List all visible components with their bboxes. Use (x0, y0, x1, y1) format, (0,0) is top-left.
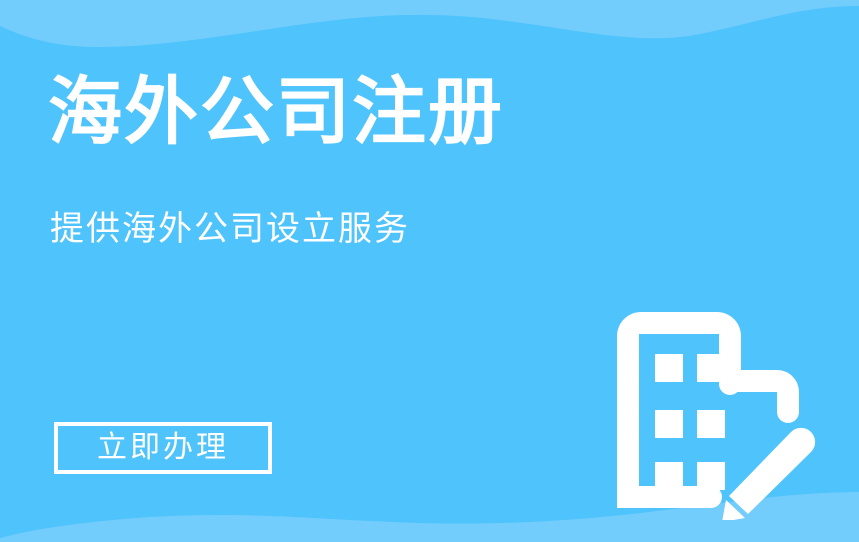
promo-banner: 海外公司注册 提供海外公司设立服务 立即办理 (0, 0, 859, 542)
page-title: 海外公司注册 (48, 64, 504, 160)
building-edit-icon (605, 300, 825, 520)
banner-subtitle: 提供海外公司设立服务 (50, 203, 410, 255)
banner-content: 海外公司注册 提供海外公司设立服务 立即办理 (48, 0, 608, 542)
apply-now-button[interactable]: 立即办理 (54, 422, 272, 474)
